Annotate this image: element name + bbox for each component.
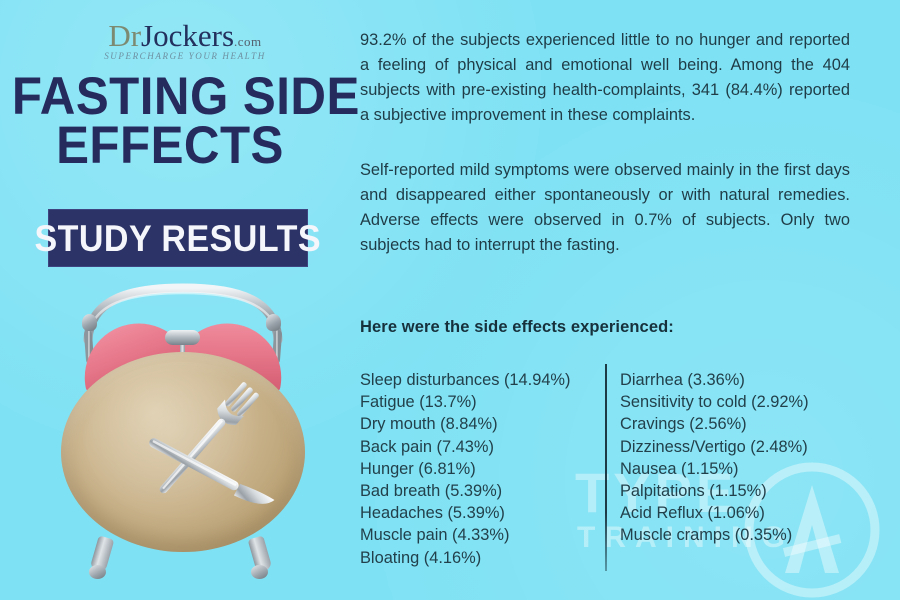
- summary-paragraph-2: Self-reported mild symptoms were observe…: [360, 158, 850, 258]
- page-title: FASTING SIDE EFFECTS: [0, 72, 340, 171]
- brand-logo-dr: Dr: [108, 18, 141, 53]
- list-item: Cravings (2.56%): [620, 413, 870, 435]
- side-effects-lists: Sleep disturbances (14.94%) Fatigue (13.…: [360, 369, 870, 569]
- alarm-clock-illustration: [48, 282, 318, 592]
- list-item: Dizziness/Vertigo (2.48%): [620, 436, 870, 458]
- list-item: Sensitivity to cold (2.92%): [620, 391, 870, 413]
- brand-logo[interactable]: DrJockers.com SUPERCHARGE YOUR HEALTH: [85, 20, 285, 61]
- left-panel: DrJockers.com SUPERCHARGE YOUR HEALTH FA…: [0, 0, 348, 600]
- list-item: Dry mouth (8.84%): [360, 413, 604, 435]
- list-item: Sleep disturbances (14.94%): [360, 369, 604, 391]
- list-item: Palpitations (1.15%): [620, 480, 870, 502]
- right-panel: 93.2% of the subjects experienced little…: [360, 0, 882, 600]
- infographic-canvas: TYPE TRAINING DrJockers.com SUPERCHARGE …: [0, 0, 900, 600]
- side-effects-right-column: Diarrhea (3.36%) Sensitivity to cold (2.…: [604, 369, 870, 569]
- list-item: Muscle cramps (0.35%): [620, 524, 870, 546]
- list-item: Bad breath (5.39%): [360, 480, 604, 502]
- list-item: Fatigue (13.7%): [360, 391, 604, 413]
- study-results-banner: STUDY RESULTS: [48, 209, 308, 267]
- list-item: Bloating (4.16%): [360, 547, 604, 569]
- list-item: Muscle pain (4.33%): [360, 524, 604, 546]
- brand-logo-jockers: Jockers: [141, 18, 234, 53]
- fork-shape: [152, 380, 261, 501]
- list-item: Nausea (1.15%): [620, 458, 870, 480]
- side-effects-heading: Here were the side effects experienced:: [360, 318, 674, 337]
- page-title-line-2: EFFECTS: [12, 121, 328, 170]
- list-item: Acid Reflux (1.06%): [620, 502, 870, 524]
- brand-tagline: SUPERCHARGE YOUR HEALTH: [85, 52, 285, 61]
- side-effects-left-column: Sleep disturbances (14.94%) Fatigue (13.…: [360, 369, 604, 569]
- knife-shape: [146, 435, 275, 513]
- list-item: Back pain (7.43%): [360, 436, 604, 458]
- page-title-line-1: FASTING SIDE: [12, 72, 328, 121]
- study-results-banner-label: STUDY RESULTS: [35, 220, 322, 257]
- brand-logo-wordmark: DrJockers.com: [85, 20, 285, 51]
- list-item: Headaches (5.39%): [360, 502, 604, 524]
- brand-logo-tld: .com: [234, 34, 262, 49]
- list-item: Hunger (6.81%): [360, 458, 604, 480]
- list-item: Diarrhea (3.36%): [620, 369, 870, 391]
- summary-paragraph-1: 93.2% of the subjects experienced little…: [360, 28, 850, 128]
- fork-and-knife-clock-hands-icon: [48, 282, 318, 592]
